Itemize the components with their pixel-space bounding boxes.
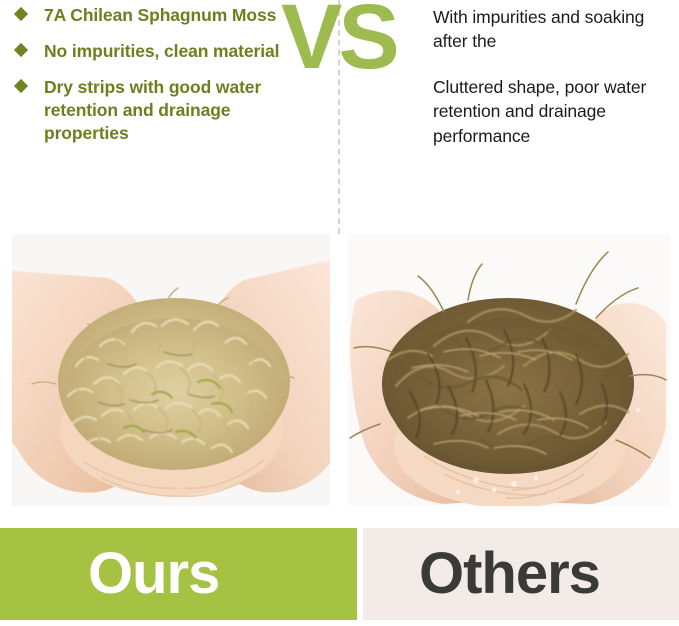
others-drawback-text: With impurities and soaking after the bbox=[433, 5, 673, 53]
vs-badge: VS bbox=[281, 0, 401, 83]
ours-benefit-item: Dry strips with good water retention and… bbox=[14, 76, 310, 145]
diamond-bullet-icon bbox=[14, 43, 28, 57]
comparison-photo-row bbox=[0, 234, 679, 506]
ours-benefit-text: Dry strips with good water retention and… bbox=[44, 77, 261, 143]
ours-label-bar: Ours bbox=[0, 528, 357, 620]
ours-benefit-text: No impurities, clean material bbox=[44, 41, 279, 61]
ours-benefits-list: 7A Chilean Sphagnum Moss No impurities, … bbox=[14, 4, 310, 158]
ours-benefit-item: 7A Chilean Sphagnum Moss bbox=[14, 4, 310, 27]
others-product-photo bbox=[348, 234, 670, 506]
ours-photo-graphic bbox=[12, 234, 330, 506]
comparison-infographic: 7A Chilean Sphagnum Moss No impurities, … bbox=[0, 0, 679, 626]
ours-product-photo bbox=[12, 234, 330, 506]
others-label-text: Others bbox=[419, 545, 600, 603]
diamond-bullet-icon bbox=[14, 79, 28, 93]
others-drawbacks-list: With impurities and soaking after the Cl… bbox=[433, 5, 673, 170]
others-label-bar: Others bbox=[363, 528, 679, 620]
others-drawback-text: Cluttered shape, poor water retention an… bbox=[433, 75, 673, 147]
ours-label-text: Ours bbox=[88, 545, 219, 603]
ours-benefit-item: No impurities, clean material bbox=[14, 40, 310, 63]
comparison-label-row: Ours Others bbox=[0, 528, 679, 620]
ours-benefit-text: 7A Chilean Sphagnum Moss bbox=[44, 5, 276, 25]
others-photo-graphic bbox=[348, 234, 670, 506]
diamond-bullet-icon bbox=[14, 7, 28, 21]
comparison-text-section: 7A Chilean Sphagnum Moss No impurities, … bbox=[0, 0, 679, 234]
